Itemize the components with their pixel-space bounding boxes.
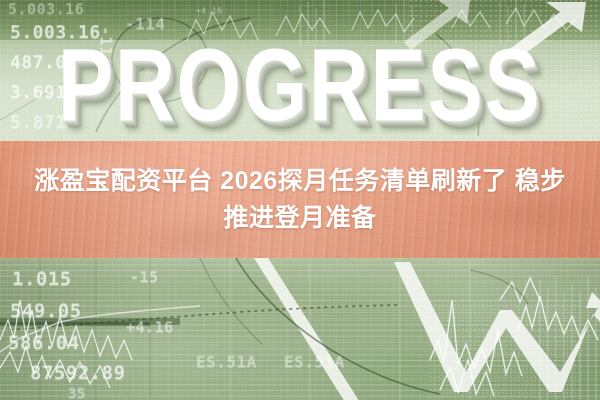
caption-band: PROGRESS 涨盈宝配资平台 2026探月任务清单刷新了 稳步 推进登月准备	[0, 141, 600, 258]
banner-image: 5.003.16 5.003.16 487.03 3.691.25 5.871 …	[0, 0, 600, 400]
wordmark-haze	[0, 40, 600, 148]
caption-line-1: 涨盈宝配资平台 2026探月任务清单刷新了 稳步	[34, 166, 566, 197]
caption-line-2: 推进登月准备	[223, 203, 376, 234]
caption-text-block: 涨盈宝配资平台 2026探月任务清单刷新了 稳步 推进登月准备	[0, 141, 600, 258]
